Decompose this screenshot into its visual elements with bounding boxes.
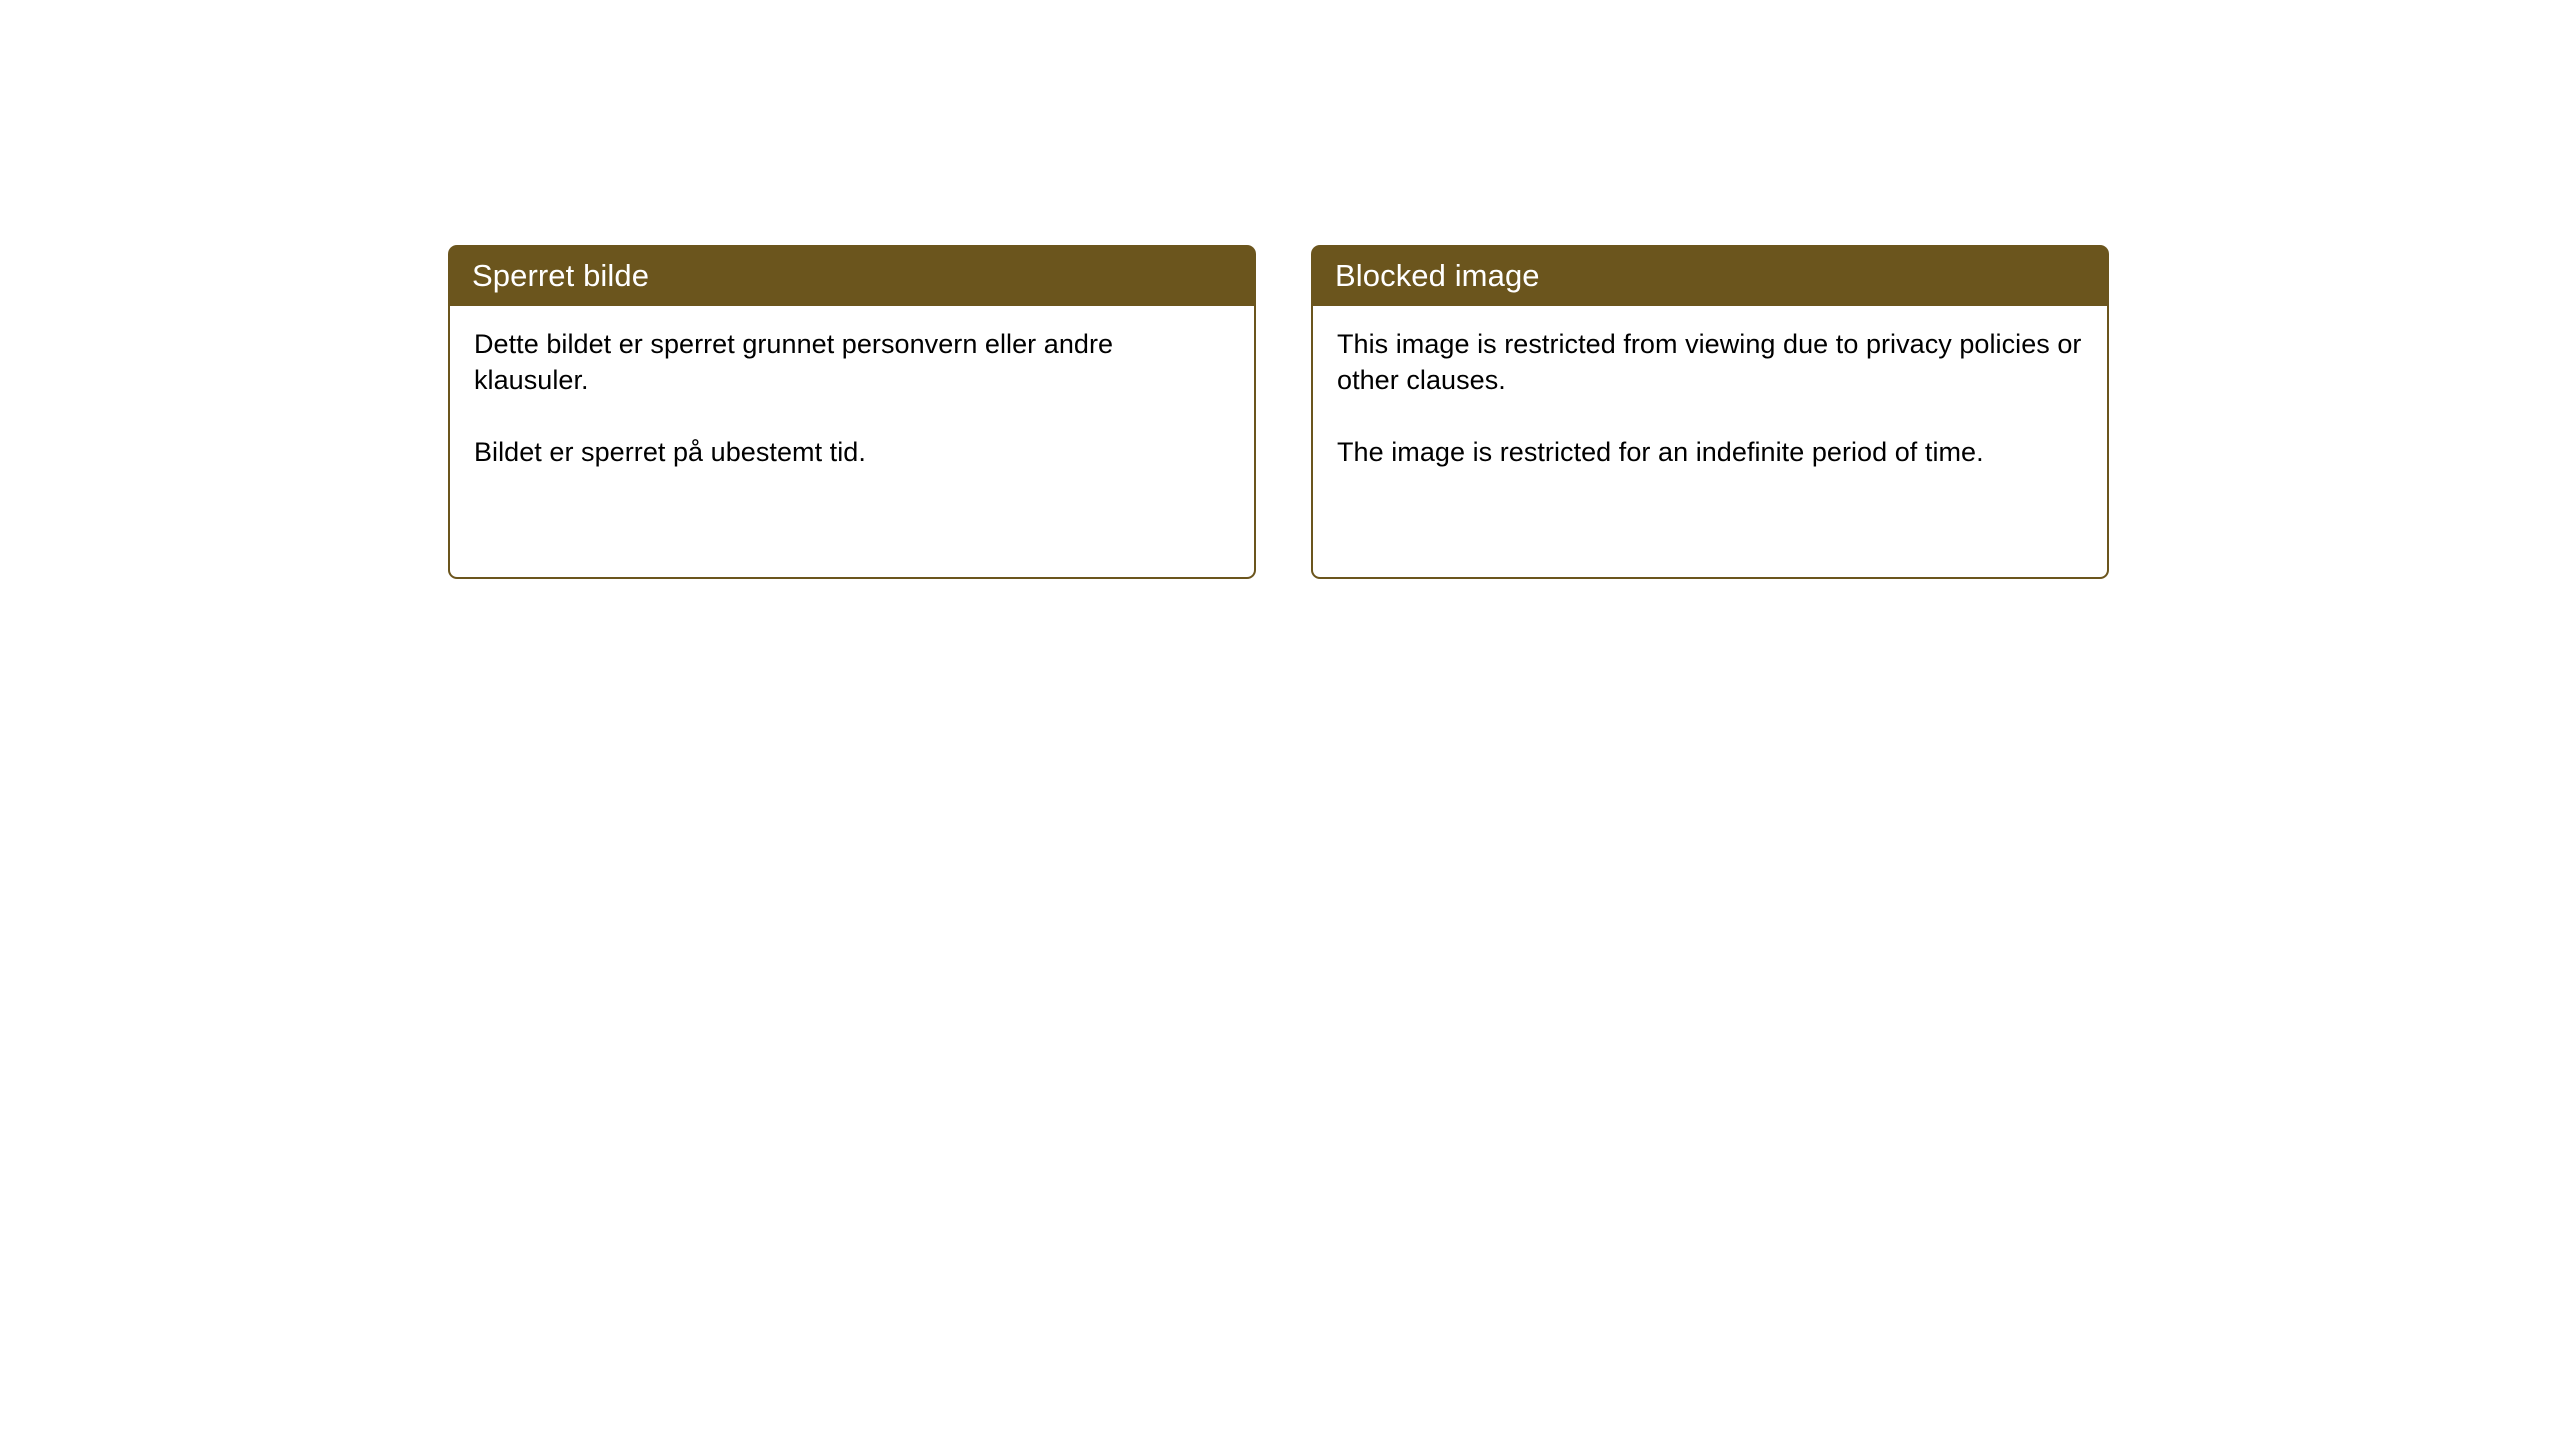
notice-title-no: Sperret bilde xyxy=(472,260,649,291)
blocked-image-notice-no: Sperret bilde Dette bildet er sperret gr… xyxy=(448,245,1256,579)
page-canvas: Sperret bilde Dette bildet er sperret gr… xyxy=(0,0,2560,1440)
notice-paragraph-duration-en: The image is restricted for an indefinit… xyxy=(1337,435,2085,471)
notice-body-no: Dette bildet er sperret grunnet personve… xyxy=(448,306,1256,579)
notice-body-en: This image is restricted from viewing du… xyxy=(1311,306,2109,579)
notice-paragraph-reason-en: This image is restricted from viewing du… xyxy=(1337,327,2085,399)
notice-header-no: Sperret bilde xyxy=(448,245,1256,306)
blocked-image-notice-en: Blocked image This image is restricted f… xyxy=(1311,245,2109,579)
notice-header-en: Blocked image xyxy=(1311,245,2109,306)
notice-paragraph-duration-no: Bildet er sperret på ubestemt tid. xyxy=(474,435,1232,471)
notice-title-en: Blocked image xyxy=(1335,260,1540,291)
notice-paragraph-reason-no: Dette bildet er sperret grunnet personve… xyxy=(474,327,1232,399)
